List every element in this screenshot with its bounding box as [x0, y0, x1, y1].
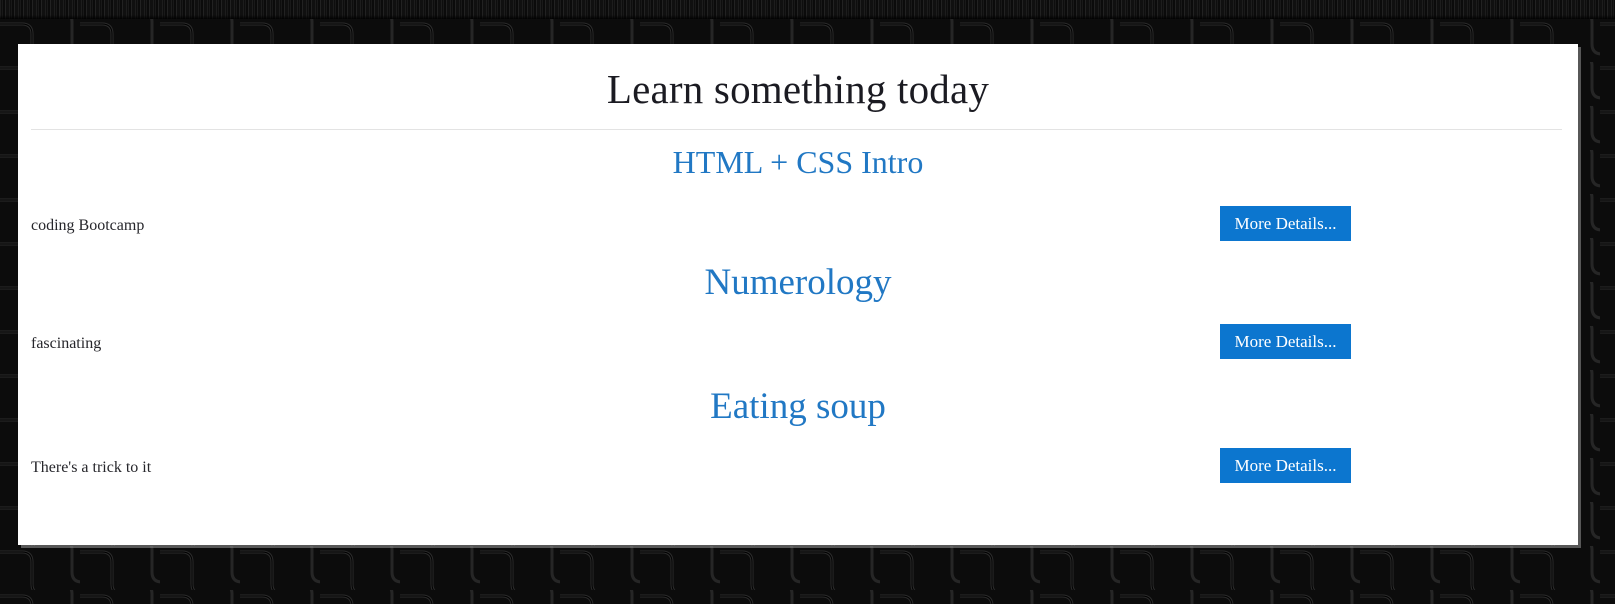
course-heading: Eating soup — [18, 366, 1578, 428]
course-item: Numerology fascinating More Details... — [18, 242, 1578, 366]
course-heading: HTML + CSS Intro — [18, 130, 1578, 180]
background-top-band — [0, 0, 1615, 19]
course-description: There's a trick to it — [31, 458, 151, 479]
page-title: Learn something today — [18, 44, 1578, 129]
course-list: HTML + CSS Intro coding Bootcamp More De… — [18, 130, 1578, 490]
page-background: Learn something today HTML + CSS Intro c… — [0, 0, 1615, 604]
more-details-button[interactable]: More Details... — [1220, 448, 1351, 483]
course-description: coding Bootcamp — [31, 216, 144, 237]
course-description: fascinating — [31, 334, 101, 355]
course-body: coding Bootcamp More Details... — [18, 180, 1578, 242]
more-details-button[interactable]: More Details... — [1220, 324, 1351, 359]
course-body: There's a trick to it More Details... — [18, 428, 1578, 490]
course-body: fascinating More Details... — [18, 304, 1578, 366]
background-top-band-shadow — [0, 15, 1615, 19]
course-heading: Numerology — [18, 242, 1578, 304]
course-item: HTML + CSS Intro coding Bootcamp More De… — [18, 130, 1578, 242]
more-details-button[interactable]: More Details... — [1220, 206, 1351, 241]
course-item: Eating soup There's a trick to it More D… — [18, 366, 1578, 490]
content-card: Learn something today HTML + CSS Intro c… — [18, 44, 1578, 545]
